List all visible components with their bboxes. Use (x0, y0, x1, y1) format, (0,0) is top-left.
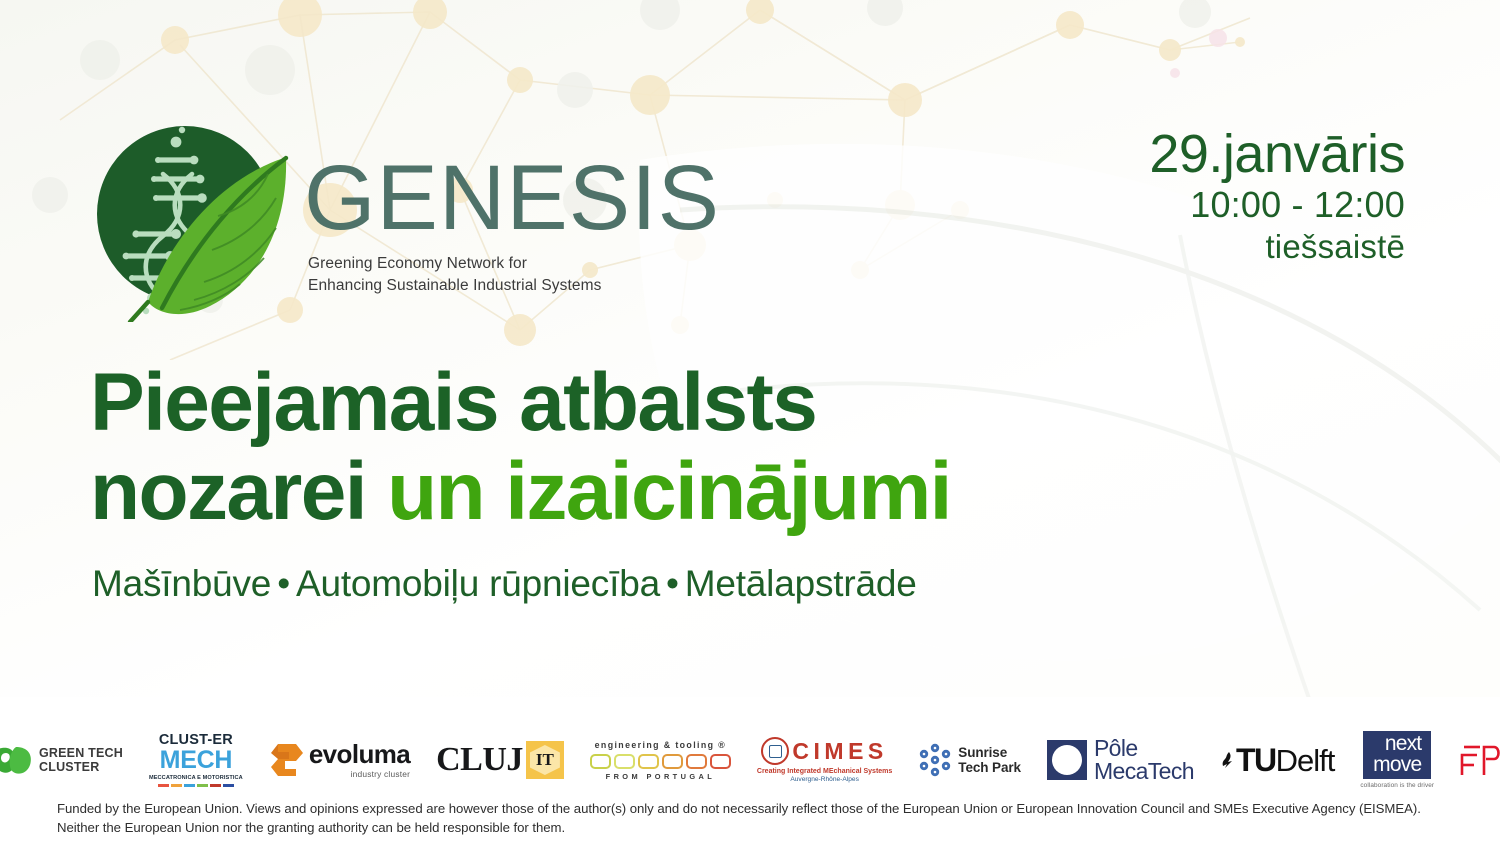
evoluma-sub: industry cluster (309, 769, 410, 779)
sunrise-line-2: Tech Park (958, 760, 1021, 775)
pole-mecatech-square-icon (1047, 740, 1087, 780)
partner-logo-cluj-it: CLUJ IT (436, 729, 564, 791)
tu-delft-delft: Delft (1276, 745, 1335, 776)
genesis-tagline-line-1: Greening Economy Network for (308, 253, 720, 275)
evoluma-hexagon-icon (269, 743, 303, 777)
partner-logo-cimes: CIMES Creating Integrated MEchanical Sys… (757, 729, 892, 791)
genesis-wordmark: GENESIS (304, 156, 720, 241)
nextmove-box: next move (1363, 731, 1431, 778)
evoluma-name: evoluma (309, 741, 410, 767)
etp-chain-links-icon (590, 754, 731, 769)
pole-line-2: MecaTech (1094, 760, 1194, 783)
cluj-word: CLUJ (436, 743, 523, 777)
green-leaf-icon (0, 741, 34, 779)
partner-logo-fondazione-piemonte-innova: FONDAZIONE PIEMONTE INNOVA (1460, 729, 1500, 791)
sector-2: Automobiļu rūpniecība (296, 563, 660, 604)
bullet-separator-icon: • (660, 563, 685, 604)
partner-logo-clust-er-mech: CLUST-ER MECH MECCATRONICA E MOTORISTICA (149, 729, 243, 791)
fpi-monogram-icon (1460, 743, 1500, 777)
cimes-sub-1: Creating Integrated MEchanical Systems (757, 768, 892, 775)
headline-line-2-accent: un izaicinājumi (387, 446, 951, 537)
subtitle-sectors: Mašīnbūve•Automobiļu rūpniecība•Metālaps… (92, 562, 917, 606)
cluj-it-badge: IT (526, 741, 564, 779)
event-date-block: 29.janvāris 10:00 - 12:00 tiešsaistē (1149, 126, 1405, 267)
cluster-color-bars (158, 784, 234, 787)
genesis-tagline-line-2: Enhancing Sustainable Industrial Systems (308, 275, 720, 297)
sunrise-hexagon-cluster-icon (918, 743, 952, 777)
cimes-word: CIMES (792, 740, 887, 763)
eu-funding-disclaimer: Funded by the European Union. Views and … (57, 800, 1447, 837)
partner-logo-nextmove: next move collaboration is the driver (1360, 729, 1434, 791)
headline-line-1: Pieejamais atbalsts (90, 358, 1140, 447)
pole-line-1: Pôle (1094, 737, 1194, 760)
partner-logo-green-tech-cluster: GREEN TECH CLUSTER (0, 729, 123, 791)
partner-logo-evoluma: evoluma industry cluster (269, 729, 410, 791)
sunrise-text: Sunrise Tech Park (958, 745, 1021, 775)
disclaimer-line-2: Neither the European Union nor the grant… (57, 819, 1447, 838)
cluster-top-label: CLUST-ER (159, 733, 233, 748)
evoluma-text: evoluma industry cluster (309, 741, 410, 779)
sector-1: Mašīnbūve (92, 563, 271, 604)
partner-logo-tu-delft: TU Delft (1220, 729, 1334, 791)
nextmove-line-2: move (1373, 755, 1421, 775)
headline-line-2-dark: nozarei (90, 446, 387, 537)
partner-logo-pole-mecatech: Pôle MecaTech (1047, 729, 1194, 791)
event-date: 29.janvāris (1149, 126, 1405, 183)
cluster-mech-label: MECH (160, 748, 232, 773)
headline: Pieejamais atbalsts nozarei un izaicināj… (90, 358, 1140, 537)
genesis-logo-lockup: GENESIS Greening Economy Network for Enh… (90, 122, 720, 322)
event-mode: tiešsaistē (1149, 227, 1405, 267)
nextmove-sub: collaboration is the driver (1360, 782, 1434, 789)
event-banner: GENESIS Greening Economy Network for Enh… (0, 0, 1500, 860)
disclaimer-line-1: Funded by the European Union. Views and … (57, 800, 1447, 819)
tu-delft-flame-icon (1220, 752, 1235, 768)
genesis-tagline: Greening Economy Network for Enhancing S… (308, 253, 720, 297)
gtc-line-2: CLUSTER (39, 760, 123, 774)
headline-line-2: nozarei un izaicinājumi (90, 447, 1140, 536)
green-tech-cluster-text: GREEN TECH CLUSTER (39, 746, 123, 774)
genesis-leaf-dna-logo-icon (90, 122, 300, 322)
etp-bottom-label: FROM PORTUGAL (606, 772, 715, 781)
event-time: 10:00 - 12:00 (1149, 183, 1405, 227)
etp-top-label: engineering & tooling ® (595, 740, 727, 750)
bullet-separator-icon: • (271, 563, 296, 604)
pole-mecatech-text: Pôle MecaTech (1094, 737, 1194, 784)
sector-3: Metālapstrāde (685, 563, 917, 604)
partner-logo-strip: Funded by the European Union GREEN TECH … (0, 724, 1500, 796)
cluj-it-label: IT (536, 750, 554, 770)
cimes-circle-icon (761, 737, 789, 765)
tu-delft-tu: TU (1236, 744, 1276, 776)
gtc-line-1: GREEN TECH (39, 746, 123, 760)
cimes-sub-2: Auvergne-Rhône-Alpes (790, 776, 859, 783)
partner-logo-engineering-tooling-portugal: engineering & tooling ® FROM PORTUGAL (590, 729, 731, 791)
cluster-sub-label: MECCATRONICA E MOTORISTICA (149, 775, 243, 781)
cimes-row: CIMES (761, 737, 887, 765)
nextmove-line-1: next (1373, 734, 1421, 754)
partner-logo-sunrise-tech-park: Sunrise Tech Park (918, 729, 1021, 791)
sunrise-line-1: Sunrise (958, 745, 1021, 760)
